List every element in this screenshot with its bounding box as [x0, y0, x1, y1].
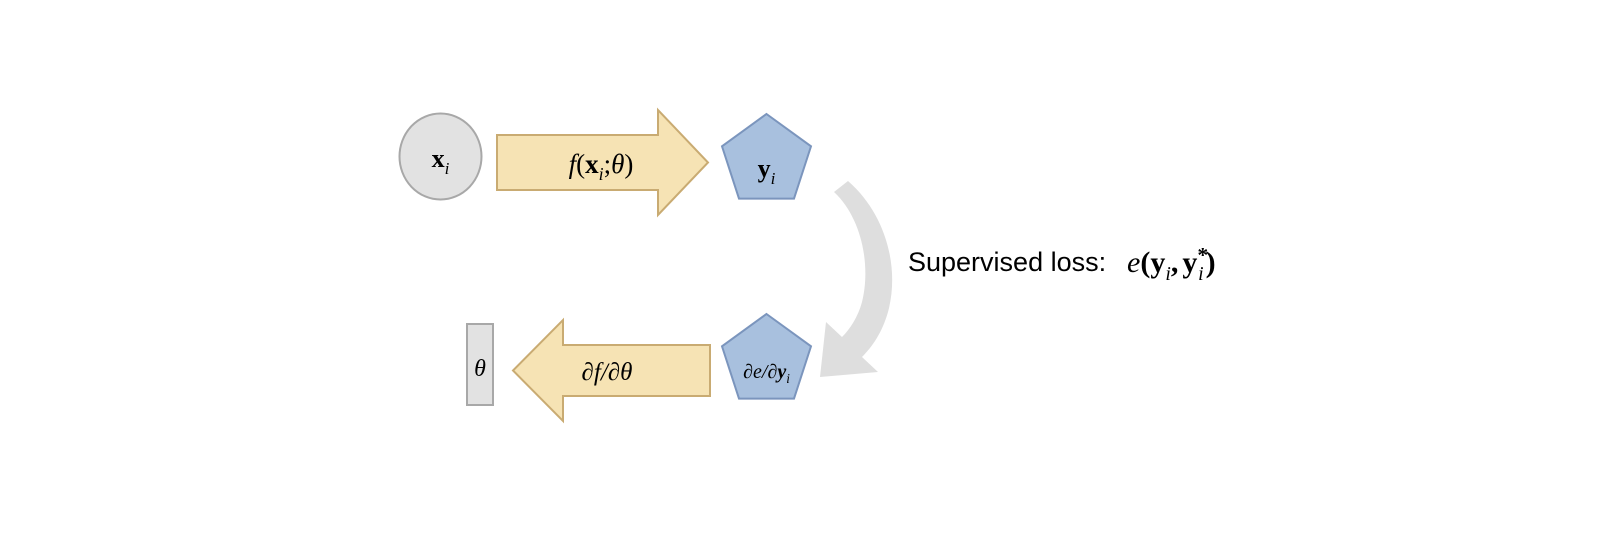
parameter-node-rect: θ: [467, 324, 493, 405]
input-node-circle: xi: [400, 114, 482, 200]
feedback-curved-arrow: [820, 181, 892, 377]
forward-arrow-label-close: ): [624, 149, 633, 179]
loss-math-y2-sub: i: [1198, 263, 1204, 285]
backward-arrow-label-denominator: ∂θ: [608, 359, 633, 386]
forward-arrow-shape: [497, 110, 708, 215]
forward-arrow-label-semicolon: ;: [604, 149, 612, 179]
forward-arrow-label-theta: θ: [611, 149, 624, 179]
backward-arrow-label: ∂f/∂θ: [582, 359, 633, 386]
gradient-node-label-partial-y: ∂y: [767, 361, 786, 383]
loss-caption-text: Supervised loss:: [908, 247, 1106, 277]
loss-math-open: (: [1140, 246, 1150, 279]
loss-math-y1: y: [1150, 246, 1165, 279]
output-node-pentagon: yi: [722, 114, 811, 199]
input-node-label-sub: i: [445, 159, 450, 178]
forward-arrow-label-x: x: [585, 149, 599, 179]
supervised-learning-diagram: xi f(xi;θ) yi Supervised loss: e(yi,y*i)…: [0, 0, 1600, 540]
diagram-canvas: xi f(xi;θ) yi Supervised loss: e(yi,y*i)…: [0, 0, 1600, 540]
input-node-label-base: x: [432, 144, 445, 173]
parameter-node-label: θ: [474, 356, 486, 382]
output-node-label-sub: i: [771, 169, 776, 188]
gradient-node-label-sub: i: [786, 371, 790, 386]
forward-arrow-label-open: (: [576, 149, 585, 179]
feedback-arrow-shape: [820, 181, 892, 377]
loss-math-close: ): [1206, 246, 1216, 279]
gradient-node-shape: [722, 314, 811, 399]
gradient-node-pentagon: ∂e/∂yi: [722, 314, 811, 399]
loss-math-comma: ,: [1171, 246, 1179, 279]
forward-function-arrow: f(xi;θ): [497, 110, 708, 215]
loss-math-y2: y: [1182, 246, 1197, 279]
loss-math-expression: e(yi,y*i): [1127, 243, 1216, 285]
output-node-label-base: y: [758, 154, 771, 183]
gradient-node-label-partial-e: ∂e: [743, 361, 762, 383]
backward-gradient-arrow: ∂f/∂θ: [513, 320, 710, 421]
loss-math-e: e: [1127, 246, 1140, 279]
supervised-loss-caption: Supervised loss: e(yi,y*i): [908, 243, 1216, 285]
gradient-node-label: ∂e/∂yi: [743, 361, 790, 386]
